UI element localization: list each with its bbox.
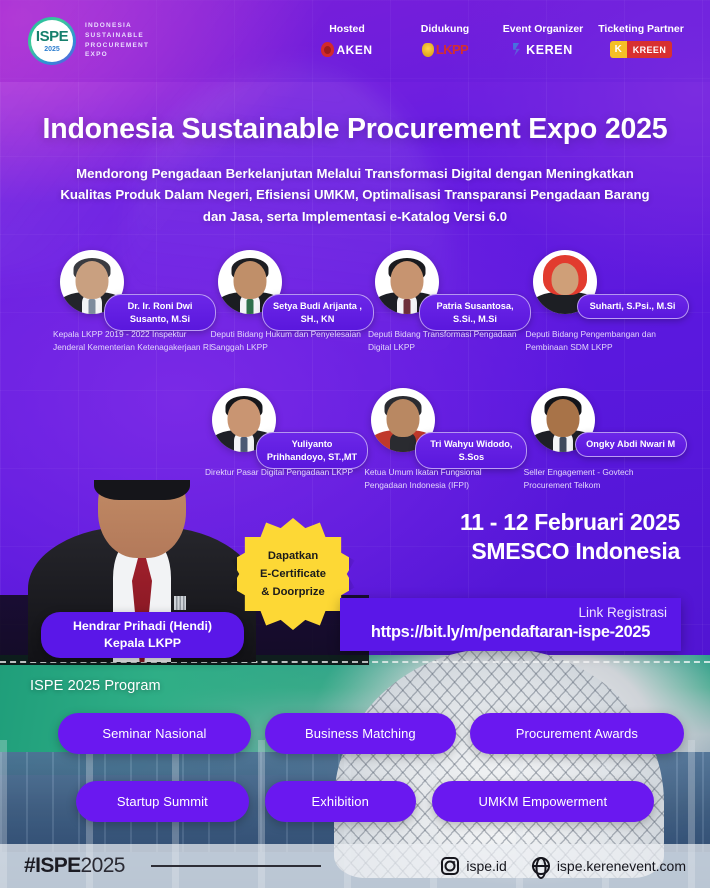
footer-hashtag-bold: #ISPE [24,854,81,877]
partner-organizer: Event Organizer KEREN [494,23,592,60]
aken-mark [321,42,334,57]
speaker-role: Kepala LKPP 2019 - 2022 Inspektur Jender… [53,328,213,354]
lapel-pin-icon [174,596,186,610]
brand-wordmark: INDONESIA SUSTAINABLE PROCUREMENT EXPO [85,22,149,60]
kreen-mark: K [610,41,627,58]
main-figure-title: Kepala LKPP [51,635,234,652]
registration-label: Link Registrasi [354,604,667,622]
registration-url[interactable]: https://bit.ly/m/pendaftaran-ispe-2025 [354,623,667,642]
instagram-handle[interactable]: ispe.id [466,858,506,874]
partner-ticketing: Ticketing Partner K KREEN [592,23,690,60]
speakers-row-1: Dr. Ir. Roni Dwi Susanto, M.Si Kepala LK… [48,250,678,314]
speaker-card: Ongky Abdi Nwari M Seller Engagement - G… [519,388,678,452]
website-url[interactable]: ispe.kerenevent.com [557,858,686,874]
program-button-business-matching[interactable]: Business Matching [265,713,456,754]
registration-link-box[interactable]: Link Registrasi https://bit.ly/m/pendaft… [340,598,681,651]
program-heading: ISPE 2025 Program [30,678,161,694]
page-title: Indonesia Sustainable Procurement Expo 2… [0,113,710,146]
speaker-card: Suharti, S.Psi., M.Si Deputi Bidang Peng… [521,250,679,314]
partner-hosted: Hosted AKEN [298,23,396,60]
program-row-1: Seminar Nasional Business Matching Procu… [58,713,684,754]
program-row-2: Startup Summit Exhibition UMKM Empowerme… [76,781,654,822]
garuda-icon [422,43,434,57]
brand-word-4: EXPO [85,51,149,60]
speaker-card: Tri Wahyu Widodo, S.Sos Ketua Umum Ikata… [359,388,518,452]
speaker-role: Deputi Bidang Hukum dan Penyelesaian San… [211,328,371,354]
brand-word-1: INDONESIA [85,22,149,31]
speaker-name-badge: Suharti, S.Psi., M.Si [577,294,689,319]
partner-ticketing-label: Ticketing Partner [592,23,690,35]
ispe-logo-year: 2025 [44,46,60,53]
speaker-card: Dr. Ir. Roni Dwi Susanto, M.Si Kepala LK… [48,250,206,314]
page-subtitle: Mendorong Pengadaan Berkelanjutan Melalu… [60,163,650,227]
keren-logo-icon: KEREN [494,40,592,60]
brand-word-3: PROCUREMENT [85,42,149,51]
partner-didukung: Didukung LKPP [396,23,494,60]
speaker-card: Yuliyanto Prihhandoyo, ST.,MT Direktur P… [200,388,359,452]
globe-icon [532,857,550,875]
burst-line-2: E-Certificate [260,565,326,583]
speaker-name-badge: Patria Susantosa, S.Si., M.Si [419,294,531,331]
burst-line-1: Dapatkan [260,547,326,565]
program-button-startup-summit[interactable]: Startup Summit [76,781,249,822]
footer-hashtag: #ISPE2025 [24,854,125,878]
speaker-role: Direktur Pasar Digital Pengadaan LKPP [205,466,365,479]
main-figure-name: Hendrar Prihadi (Hendi) [51,618,234,635]
speaker-role: Ketua Umum Ikatan Fungsional Pengadaan I… [364,466,524,492]
footer-instagram[interactable]: ispe.id [441,857,506,875]
program-button-exhibition[interactable]: Exhibition [265,781,416,822]
program-button-umkm-empowerment[interactable]: UMKM Empowerment [432,781,654,822]
poster-header: ISPE 2025 INDONESIA SUSTAINABLE PROCUREM… [0,0,710,82]
footer-divider [151,865,321,867]
speaker-role: Seller Engagement - Govtech Procurement … [524,466,684,492]
speaker-name-badge: Tri Wahyu Widodo, S.Sos [415,432,527,469]
speaker-name-badge: Setya Budi Arijanta , SH., KN [262,294,374,331]
speaker-name-badge: Ongky Abdi Nwari M [575,432,687,457]
partner-hosted-label: Hosted [298,23,396,35]
instagram-icon [441,857,459,875]
speakers-row-2: Yuliyanto Prihhandoyo, ST.,MT Direktur P… [200,388,678,452]
program-button-procurement-awards[interactable]: Procurement Awards [470,713,684,754]
brand-word-2: SUSTAINABLE [85,32,149,41]
aken-logo-text: AKEN [336,43,372,57]
speaker-name-badge: Dr. Ir. Roni Dwi Susanto, M.Si [104,294,216,331]
speaker-role: Deputi Bidang Transformasi Pengadaan Dig… [368,328,528,354]
kreen-logo-icon: K KREEN [592,40,690,60]
event-venue: SMESCO Indonesia [460,537,680,566]
certificate-doorprize-badge: Dapatkan E-Certificate & Doorprize [237,518,349,630]
speaker-card: Patria Susantosa, S.Si., M.Si Deputi Bid… [363,250,521,314]
kreen-logo-text: KREEN [627,45,673,55]
footer-hashtag-year: 2025 [81,854,125,877]
lkpp-logo-icon: LKPP [396,40,494,60]
main-figure-name-badge: Hendrar Prihadi (Hendi) Kepala LKPP [41,612,244,658]
footer-social-group: ispe.id ispe.kerenevent.com [441,857,686,875]
partner-didukung-label: Didukung [396,23,494,35]
lkpp-logo-text: LKPP [436,42,468,57]
partner-organizer-label: Event Organizer [494,23,592,35]
aken-logo-icon: AKEN [298,40,396,60]
poster-footer: #ISPE2025 ispe.id ispe.kerenevent.com [0,844,710,888]
event-date-venue: 11 - 12 Februari 2025 SMESCO Indonesia [460,508,680,567]
event-poster: ISPE 2025 INDONESIA SUSTAINABLE PROCUREM… [0,0,710,888]
event-date: 11 - 12 Februari 2025 [460,508,680,537]
program-button-seminar-nasional[interactable]: Seminar Nasional [58,713,251,754]
ispe-logo-icon: ISPE 2025 [28,17,76,65]
ispe-brand-lockup: ISPE 2025 INDONESIA SUSTAINABLE PROCUREM… [28,17,149,65]
keren-logo-text: KEREN [526,43,573,57]
speaker-role: Deputi Bidang Pengembangan dan Pembinaan… [526,328,686,354]
speaker-name-badge: Yuliyanto Prihhandoyo, ST.,MT [256,432,368,469]
speaker-card: Setya Budi Arijanta , SH., KN Deputi Bid… [206,250,364,314]
footer-website[interactable]: ispe.kerenevent.com [532,857,686,875]
partner-logos-group: Hosted AKEN Didukung LKPP [298,23,696,60]
ispe-logo-text: ISPE [36,29,68,44]
keren-mark [513,43,524,56]
burst-line-3: & Doorprize [260,583,326,601]
